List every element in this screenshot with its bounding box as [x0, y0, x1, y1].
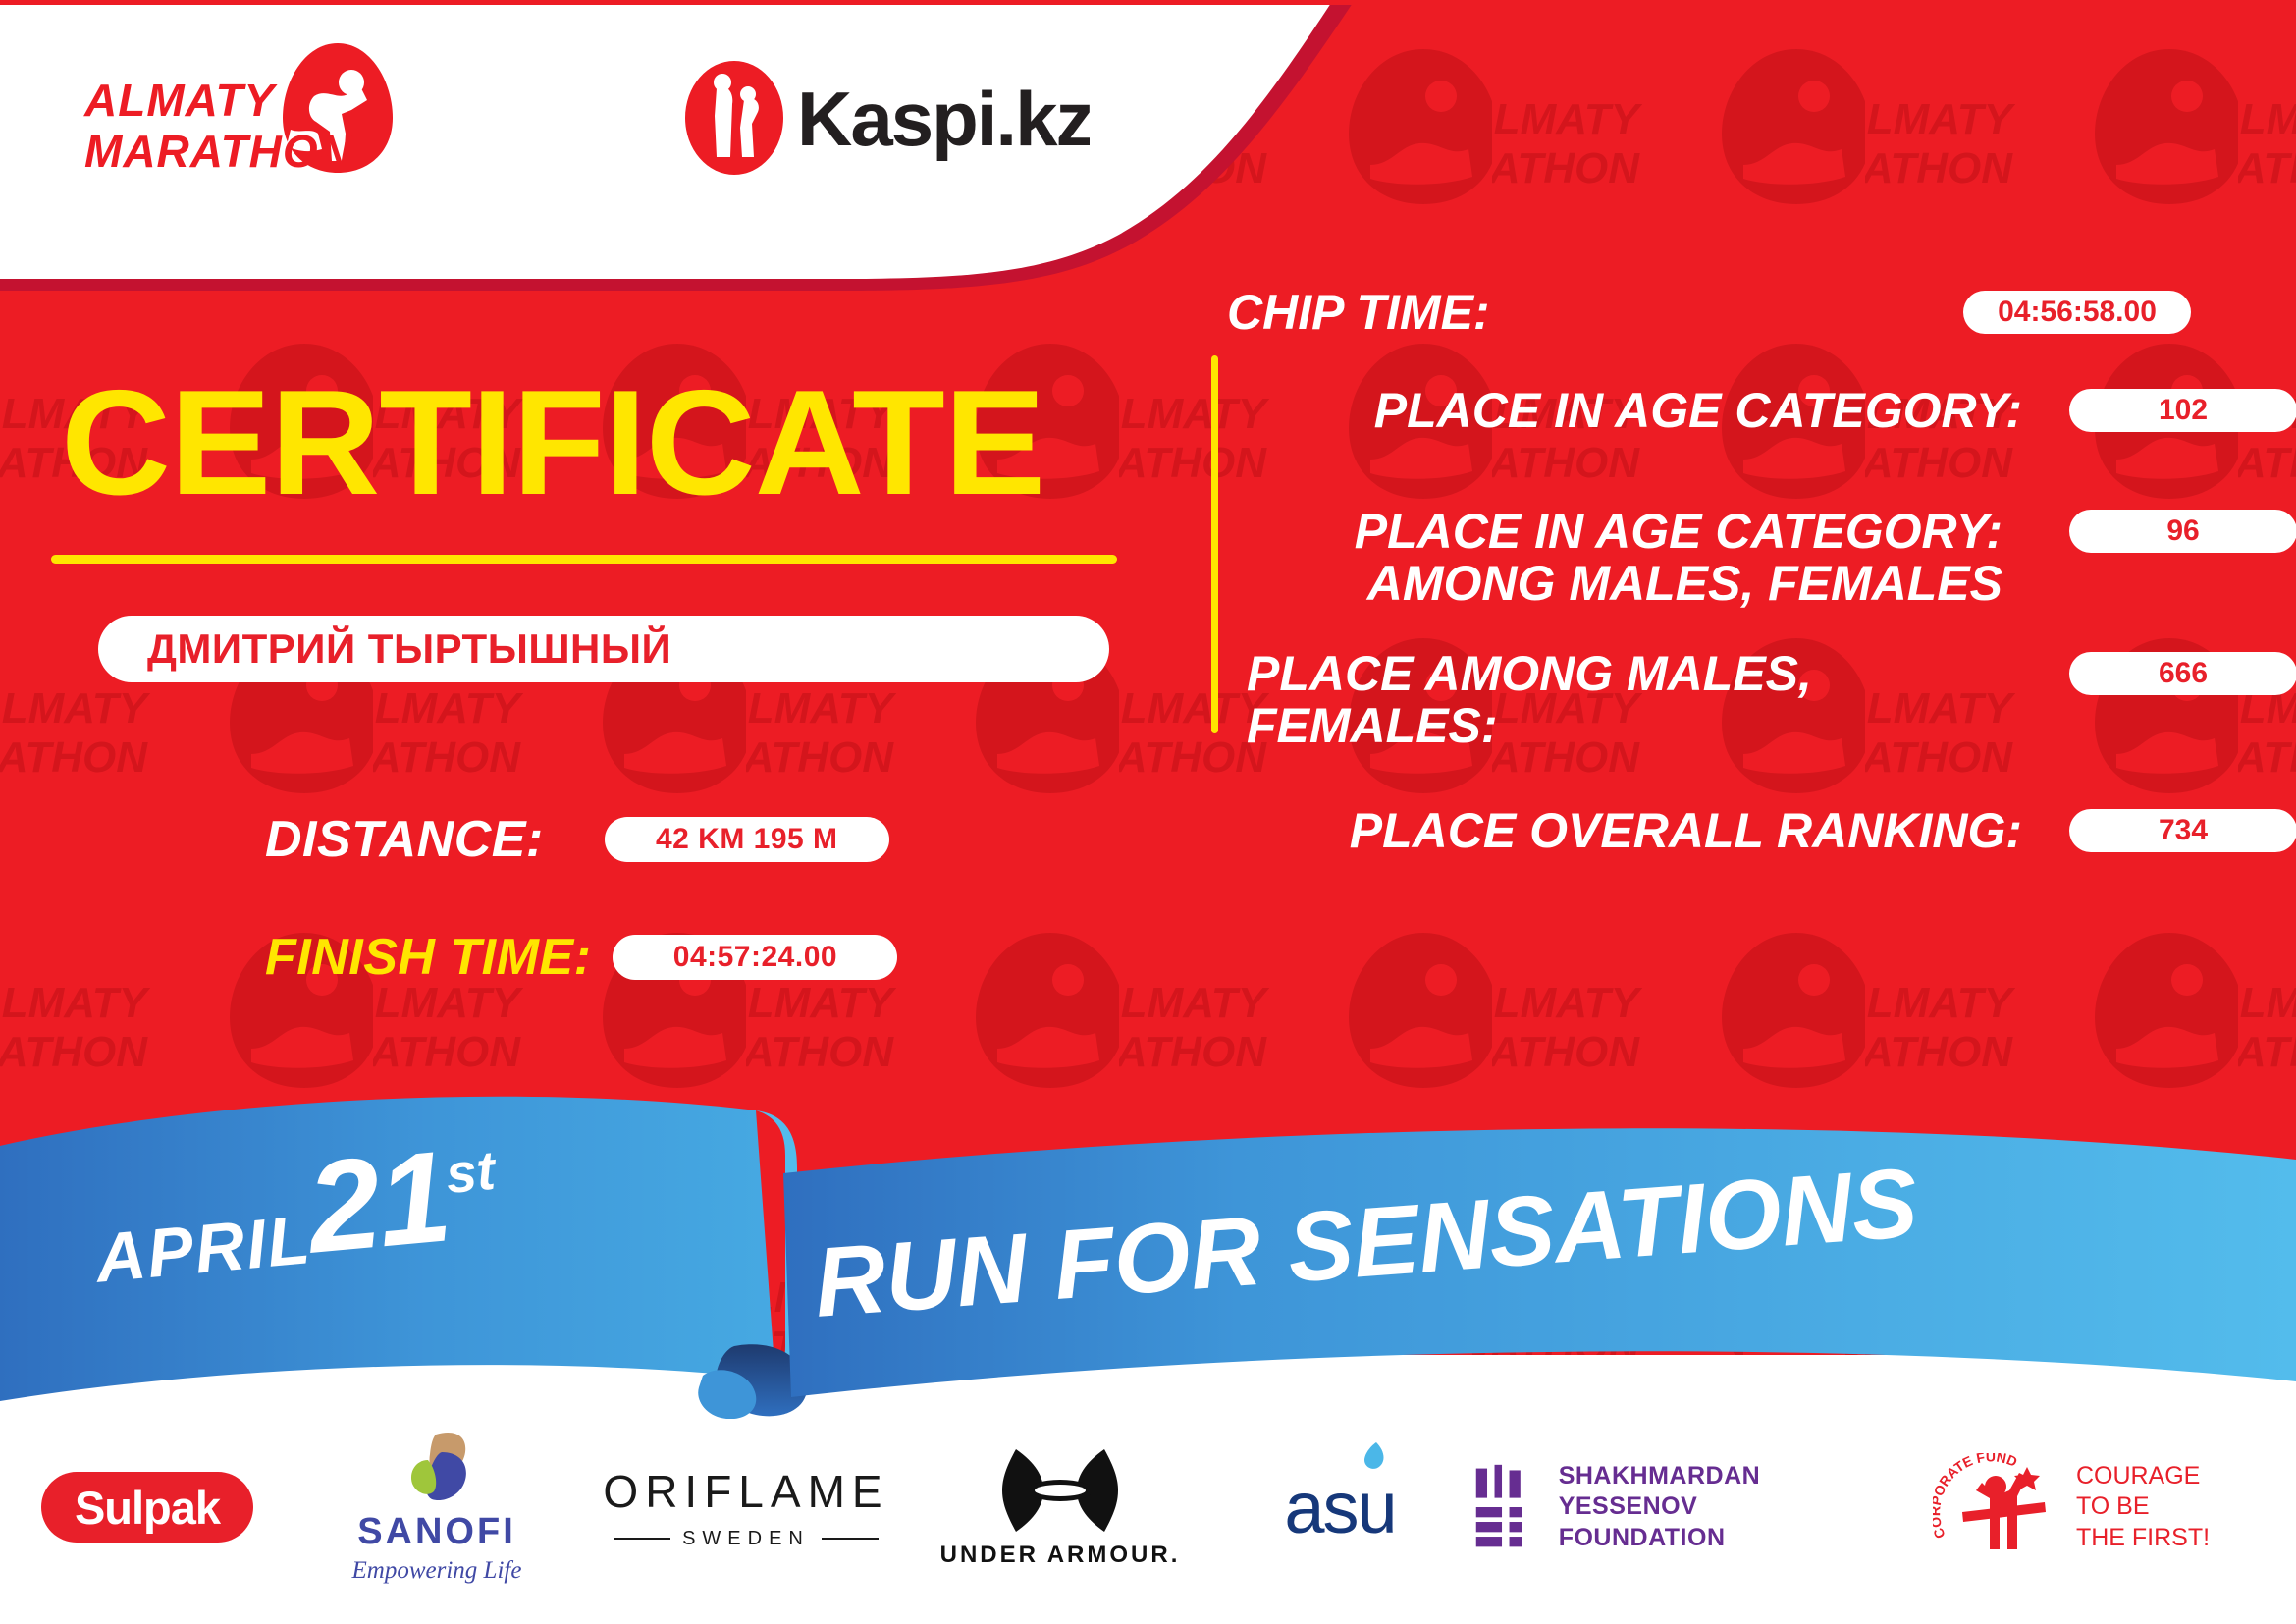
finish-time-row: FINISH TIME: 04:57:24.00 — [265, 928, 897, 987]
sponsor-sulpak: Sulpak — [0, 1409, 294, 1605]
sponsor-oriflame: ORIFLAME SWEDEN — [579, 1409, 913, 1605]
place-age-category-among-label: PLACE IN AGE CATEGORY: AMONG MALES, FEMA… — [1227, 506, 2002, 610]
courage-runner-icon: CORPORATE FUND — [1933, 1453, 2062, 1561]
oriflame-rule-right — [822, 1538, 879, 1540]
result-row-place-age-category-among: PLACE IN AGE CATEGORY: AMONG MALES, FEMA… — [1227, 506, 2296, 610]
sponsor-sanofi: SANOFI Empowering Life — [294, 1409, 579, 1605]
athlete-name-value: ДМИТРИЙ ТЫРТЫШНЫЙ — [147, 625, 671, 673]
asu-droplet-icon — [1357, 1440, 1390, 1474]
oriflame-label: ORIFLAME — [603, 1465, 888, 1518]
finish-time-value: 04:57:24.00 — [613, 935, 897, 980]
result-row-place-age-category: PLACE IN AGE CATEGORY: 102 — [1227, 385, 2296, 437]
svg-text:ALMATY: ALMATY — [83, 75, 279, 126]
under-armour-mark-icon — [998, 1445, 1122, 1536]
sulpak-logo: Sulpak — [41, 1472, 253, 1543]
finish-time-label: FINISH TIME: — [265, 928, 591, 987]
certificate-left-column: CERTIFICATE ДМИТРИЙ ТЫРТЫШНЫЙ DISTANCE: … — [0, 324, 1178, 1110]
oriflame-sub-label: SWEDEN — [682, 1528, 810, 1550]
results-panel: CHIP TIME: 04:56:58.00 PLACE IN AGE CATE… — [1227, 324, 2296, 1110]
oriflame-rule-left — [614, 1538, 670, 1540]
title-divider-rule — [51, 555, 1117, 564]
kaspi-kz-logo: Kaspi.kz — [677, 59, 1090, 177]
sanofi-label: SANOFI — [357, 1511, 516, 1553]
distance-row: DISTANCE: 42 KM 195 M — [265, 810, 889, 869]
ribbon-day: 21 — [301, 1123, 454, 1279]
sponsor-asu: asu — [1207, 1409, 1472, 1605]
sponsor-yessenov-foundation: SHAKHMARDAN YESSENOV FOUNDATION — [1472, 1409, 1885, 1605]
asu-label: asu — [1284, 1467, 1395, 1548]
sulpak-label: Sulpak — [75, 1481, 220, 1535]
place-age-category-value: 102 — [2069, 389, 2296, 432]
place-overall-ranking-value: 734 — [2069, 809, 2296, 852]
athlete-name-field[interactable]: ДМИТРИЙ ТЫРТЫШНЫЙ — [98, 616, 1109, 682]
vertical-yellow-divider — [1211, 355, 1218, 733]
chip-time-value: 04:56:58.00 — [1963, 291, 2191, 334]
place-among-males-females-label: PLACE AMONG MALES, FEMALES: — [1227, 648, 2002, 752]
place-age-category-among-value: 96 — [2069, 510, 2296, 553]
distance-value: 42 KM 195 M — [605, 817, 889, 862]
sponsor-courage-to-be-the-first: CORPORATE FUND COURAGE TO BE THE FIRST! — [1885, 1409, 2258, 1605]
page-title: CERTIFICATE — [61, 368, 1044, 517]
place-overall-ranking-label: PLACE OVERALL RANKING: — [1227, 805, 2022, 857]
ribbon-ordinal: st — [443, 1139, 497, 1205]
sponsor-logo-strip: Sulpak SANOFI Empowering Life ORIFLAME S… — [0, 1404, 2296, 1610]
sanofi-tagline: Empowering Life — [352, 1557, 522, 1585]
courage-label: COURAGE TO BE THE FIRST! — [2076, 1461, 2210, 1553]
result-row-place-among-males-females: PLACE AMONG MALES, FEMALES: 666 — [1227, 648, 2296, 752]
chip-time-label: CHIP TIME: — [1227, 287, 1777, 339]
result-row-chip-time: CHIP TIME: 04:56:58.00 — [1227, 287, 2296, 339]
result-row-place-overall-ranking: PLACE OVERALL RANKING: 734 — [1227, 805, 2296, 857]
distance-label: DISTANCE: — [265, 810, 544, 869]
almaty-marathon-logo: ALMATY MARATHON — [80, 39, 414, 177]
yessenov-mark-icon — [1472, 1462, 1537, 1552]
certificate-canvas: ALMATY MARATHON ALMATY MARATHON Kaspi.kz — [0, 0, 2296, 1624]
svg-text:Kaspi.kz: Kaspi.kz — [797, 76, 1090, 162]
sanofi-mark-icon — [395, 1431, 479, 1507]
place-among-males-females-value: 666 — [2069, 652, 2296, 695]
svg-text:MARATHON: MARATHON — [84, 126, 352, 177]
sponsor-under-armour: UNDER ARMOUR. — [913, 1409, 1207, 1605]
ribbon-month: APRIL — [92, 1201, 314, 1297]
yessenov-label: SHAKHMARDAN YESSENOV FOUNDATION — [1559, 1461, 1885, 1553]
under-armour-label: UNDER ARMOUR. — [940, 1542, 1181, 1569]
place-age-category-label: PLACE IN AGE CATEGORY: — [1227, 385, 2022, 437]
